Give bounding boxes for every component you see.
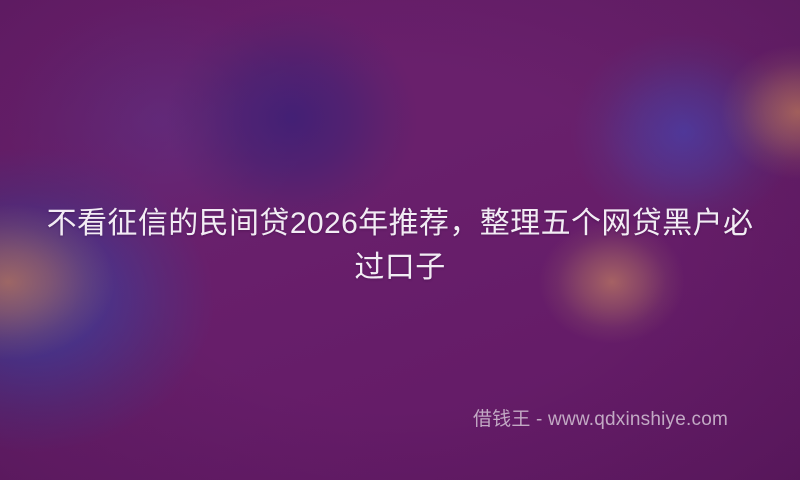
site-watermark: 借钱王 - www.qdxinshiye.com <box>0 408 800 432</box>
page-title: 不看征信的民间贷2026年推荐，整理五个网贷黑户必过口子 <box>0 202 800 290</box>
article-cover-banner: 不看征信的民间贷2026年推荐，整理五个网贷黑户必过口子 借钱王 - www.q… <box>0 0 800 480</box>
